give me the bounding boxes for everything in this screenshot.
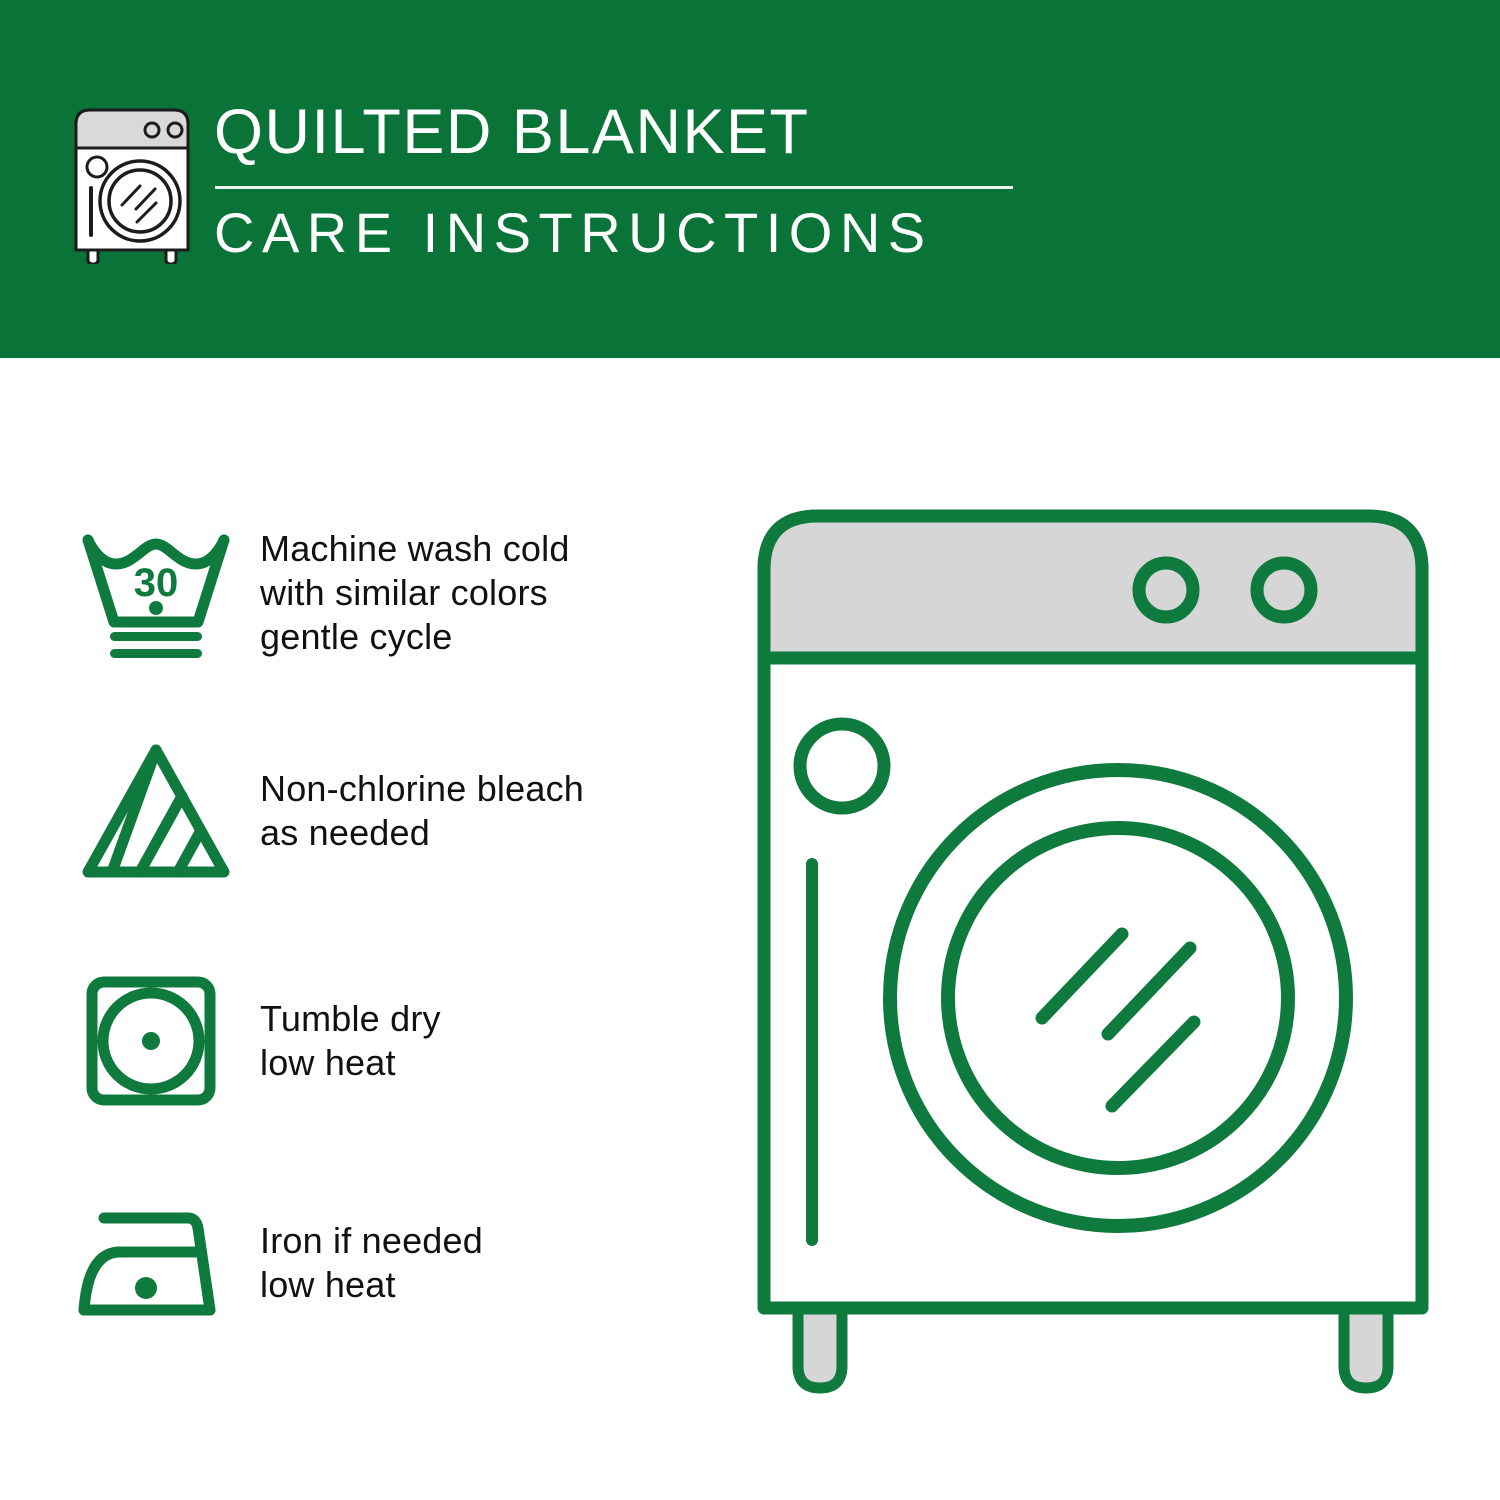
care-row-wash: 30 Machine wash cold with similar colors… <box>72 518 712 668</box>
title-divider <box>215 186 1013 189</box>
care-text-iron: Iron if needed low heat <box>240 1219 483 1307</box>
header-text-block: QUILTED BLANKET CARE INSTRUCTIONS <box>214 96 1014 276</box>
wash-temperature-label: 30 <box>134 561 179 605</box>
care-instruction-list: 30 Machine wash cold with similar colors… <box>0 358 740 1500</box>
care-text-bleach: Non-chlorine bleach as needed <box>240 767 584 855</box>
care-instructions-infographic: QUILTED BLANKET CARE INSTRUCTIONS <box>0 0 1500 1500</box>
care-row-tumble-dry: Tumble dry low heat <box>72 966 712 1116</box>
tumble-dry-low-heat-icon <box>72 966 240 1116</box>
washing-machine-illustration <box>750 500 1450 1400</box>
care-text-wash: Machine wash cold with similar colors ge… <box>240 527 570 659</box>
washing-machine-logo-icon <box>62 104 202 264</box>
care-row-iron: Iron if needed low heat <box>72 1188 712 1338</box>
wash-tub-30-gentle-icon: 30 <box>72 518 240 668</box>
non-chlorine-bleach-triangle-icon <box>72 736 240 886</box>
care-row-bleach: Non-chlorine bleach as needed <box>72 736 712 886</box>
care-text-tumble-dry: Tumble dry low heat <box>240 997 441 1085</box>
iron-low-heat-icon <box>72 1188 240 1338</box>
header-band: QUILTED BLANKET CARE INSTRUCTIONS <box>0 0 1500 358</box>
page-title: QUILTED BLANKET <box>214 96 1014 168</box>
page-subtitle: CARE INSTRUCTIONS <box>214 200 933 266</box>
